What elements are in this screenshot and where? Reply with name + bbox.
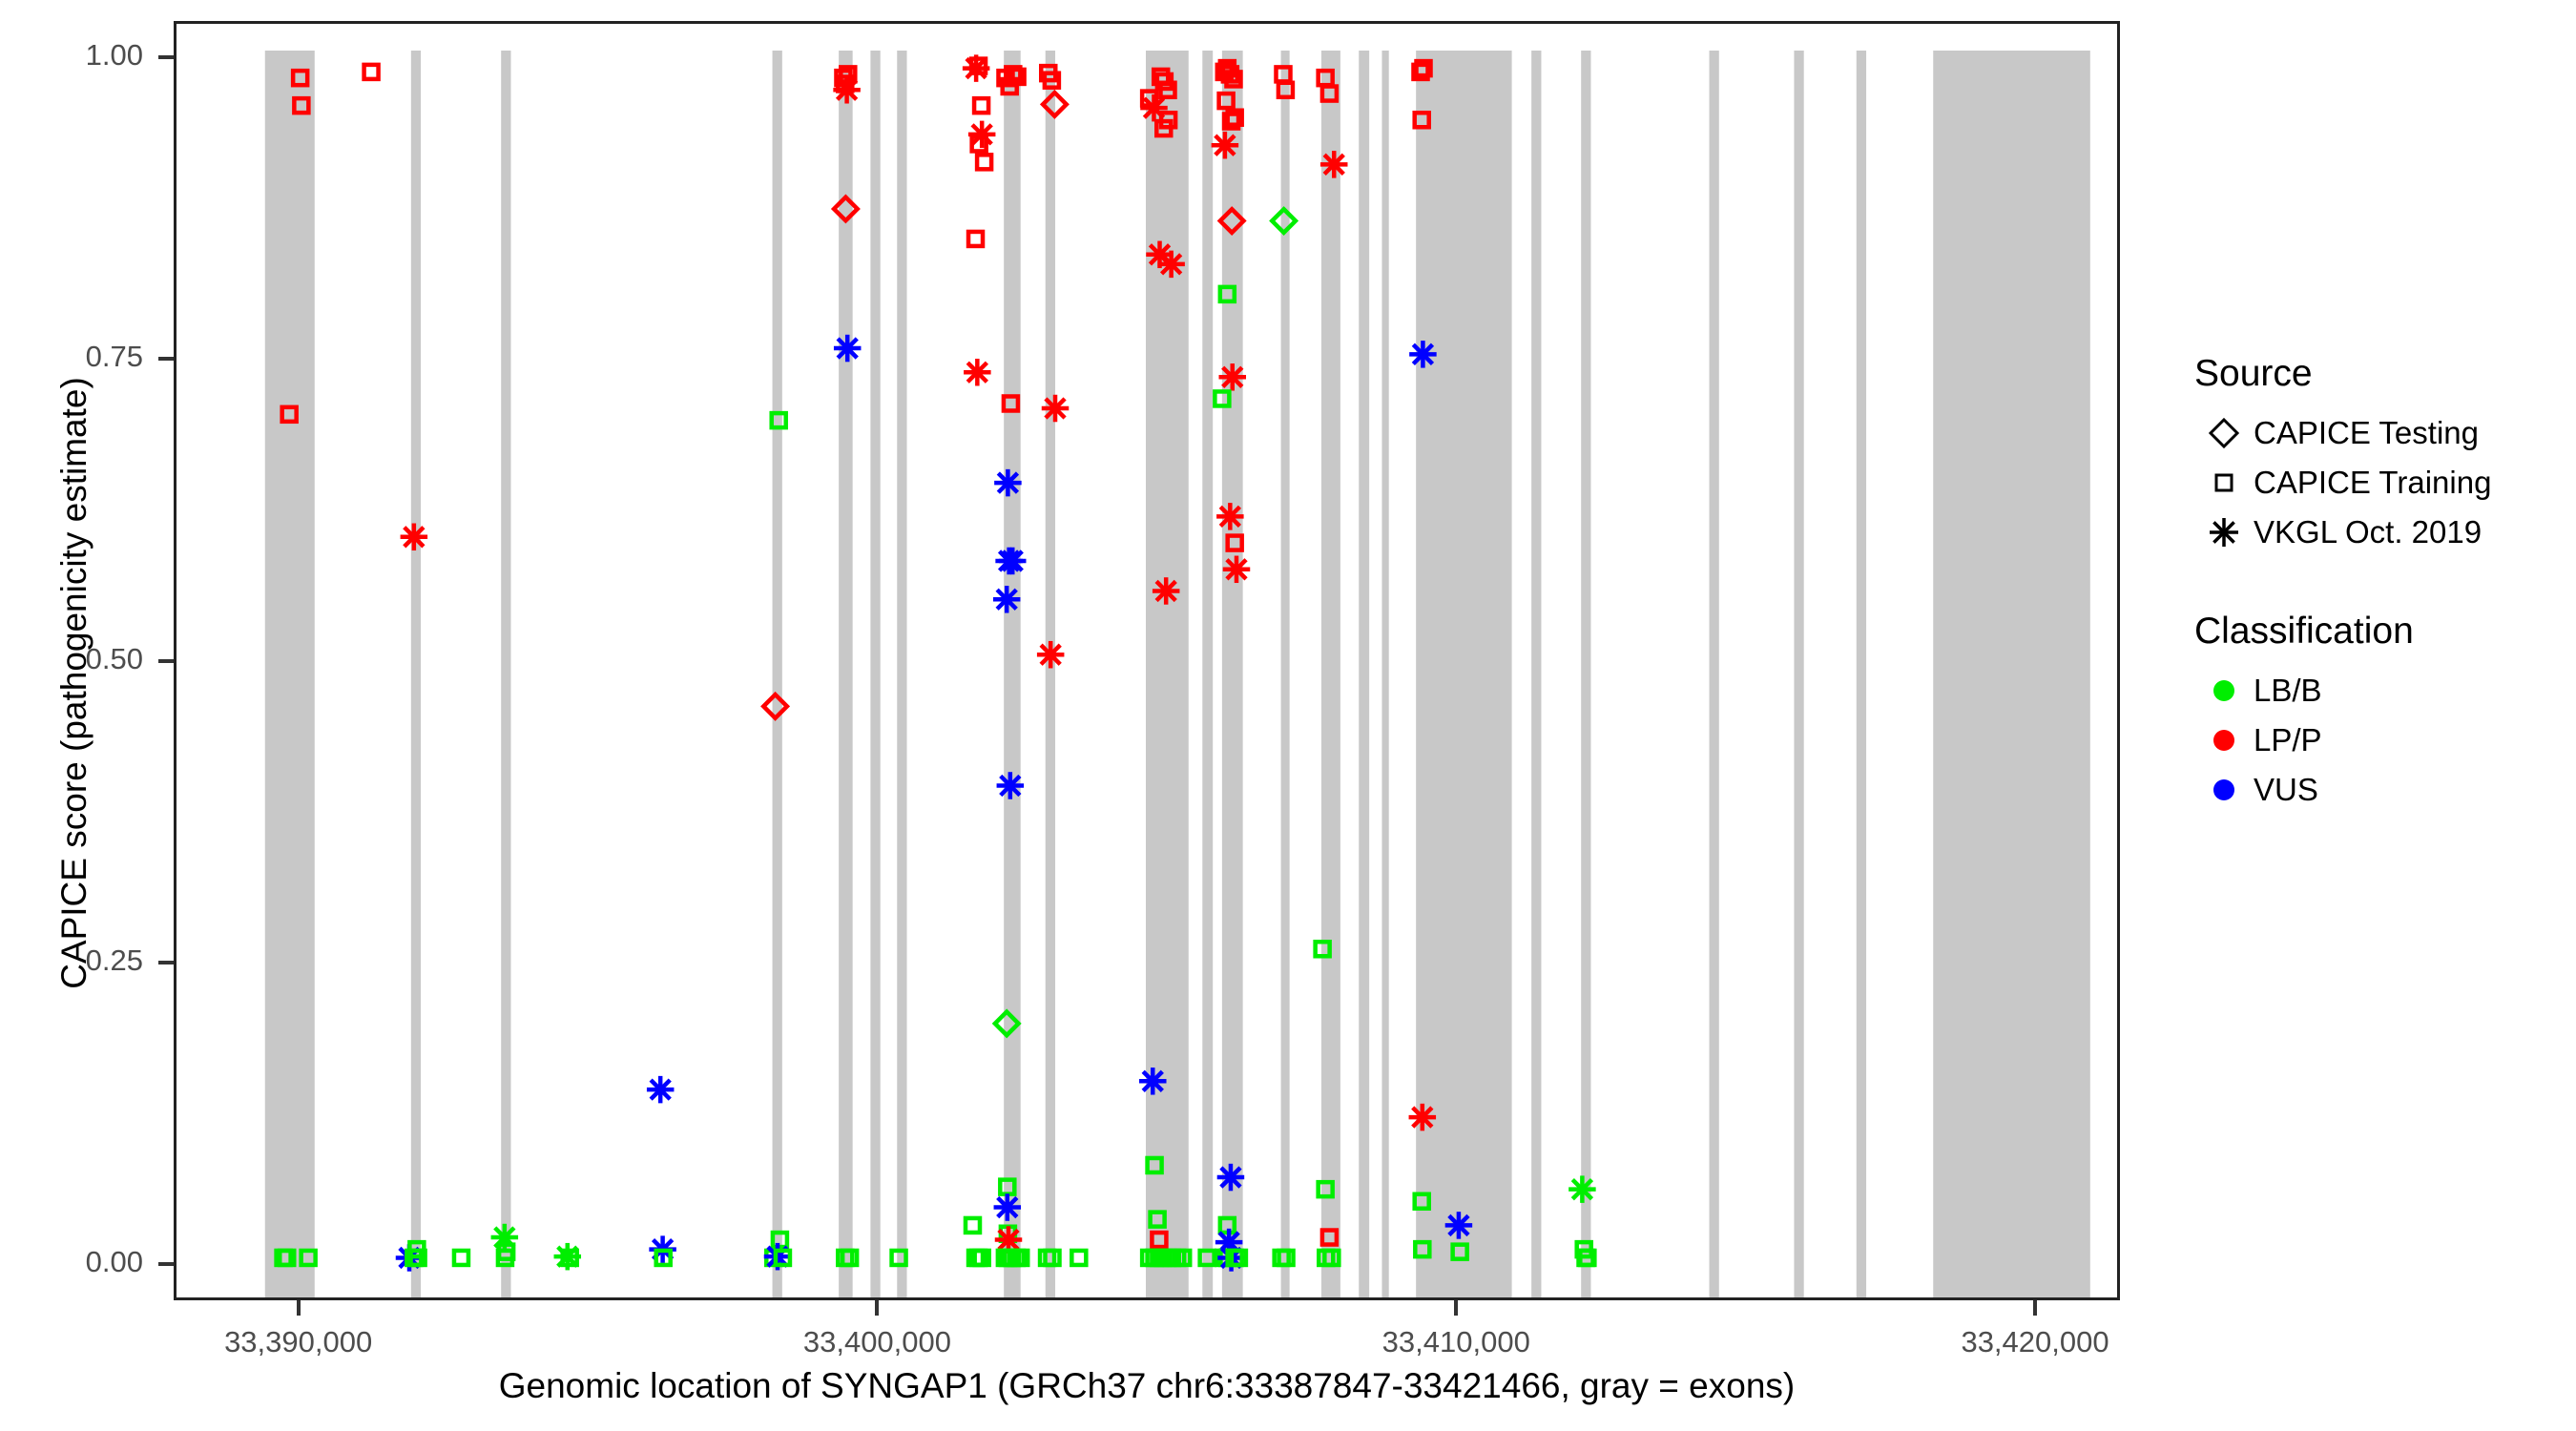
data-point [994,1193,1022,1221]
legend: Source CAPICE TestingCAPICE TrainingVKGL… [2194,353,2566,815]
legend-source-item-row[interactable]: CAPICE Training [2194,458,2566,508]
data-point [1216,503,1244,530]
exon-band [1709,51,1718,1297]
data-point [1071,1251,1086,1265]
exon-bands-layer [265,51,2090,1297]
legend-source-items: CAPICE TestingCAPICE TrainingVKGL Oct. 2… [2194,408,2566,557]
legend-classification-item-label: LP/P [2254,722,2322,758]
exon-band [1222,51,1243,1297]
x-tick-mark [2033,1300,2037,1316]
legend-source-item-row[interactable]: VKGL Oct. 2019 [2194,508,2566,557]
chart-root: CAPICE score (pathogenicity estimate) Ge… [0,0,2576,1431]
data-point [454,1251,468,1265]
x-tick-mark [1454,1300,1458,1316]
legend-classification-item-label: LB/B [2254,673,2322,709]
data-point [1037,641,1065,669]
legend-classification-item-label: VUS [2254,772,2318,808]
exon-band [1281,51,1290,1297]
y-tick-label: 1.00 [0,38,143,73]
data-point [1042,395,1070,423]
y-axis-label: CAPICE score (pathogenicity estimate) [54,111,94,1255]
legend-classification-item-row[interactable]: LB/B [2194,666,2566,715]
exon-band [1794,51,1803,1297]
y-tick-mark [158,55,174,59]
y-tick-mark [158,357,174,361]
exon-band [1004,51,1021,1297]
y-tick-label: 0.50 [0,642,143,676]
legend-classification-item-row[interactable]: LP/P [2194,715,2566,765]
data-point [1157,251,1185,279]
data-point [1212,132,1239,159]
exon-band [1581,51,1590,1297]
data-point [997,772,1025,799]
y-tick-label: 0.00 [0,1245,143,1279]
data-point [364,65,379,79]
exon-band [1321,51,1340,1297]
exon-band [1046,51,1055,1297]
data-point [1568,1175,1596,1203]
exon-band [1202,51,1213,1297]
x-tick-label: 33,400,000 [715,1325,1039,1359]
data-point [1409,341,1437,368]
diamond-icon [2194,412,2254,454]
legend-spacer [2194,557,2566,611]
asterisk-icon [2194,511,2254,553]
legend-source-item-label: CAPICE Testing [2254,415,2479,451]
data-point [994,469,1022,497]
legend-classification-item-row[interactable]: VUS [2194,765,2566,815]
data-point [1217,1164,1245,1192]
exon-band [1381,51,1388,1297]
exon-band [1933,51,2090,1297]
exon-band [839,51,853,1297]
scatter-plot-svg [177,24,2117,1297]
y-tick-mark [158,961,174,964]
y-tick-label: 0.75 [0,340,143,374]
exon-band [773,51,782,1297]
x-axis-label: Genomic location of SYNGAP1 (GRCh37 chr6… [174,1366,2120,1406]
data-point [1445,1212,1473,1239]
x-tick-label: 33,410,000 [1294,1325,1618,1359]
square-icon [2194,462,2254,504]
data-point [1223,556,1251,584]
data-point [974,98,988,113]
exon-band [1359,51,1369,1297]
legend-source-item-label: VKGL Oct. 2019 [2254,514,2482,550]
data-point [999,548,1027,575]
data-point [834,335,862,363]
data-points-layer [277,54,1596,1271]
data-point [977,155,991,169]
exon-band [1146,51,1189,1297]
legend-classification-items: LB/BLP/PVUS [2194,666,2566,815]
data-point [964,359,991,386]
exon-band [897,51,906,1297]
x-tick-label: 33,390,000 [136,1325,461,1359]
x-tick-mark [297,1300,301,1316]
data-point [1320,151,1348,178]
data-point [993,586,1021,613]
exon-band [870,51,880,1297]
exon-band [1531,51,1541,1297]
exon-band [411,51,421,1297]
data-point [1153,577,1180,605]
x-tick-mark [875,1300,879,1316]
legend-source-item-row[interactable]: CAPICE Testing [2194,408,2566,458]
data-point [1139,1068,1167,1095]
dot-icon [2194,719,2254,761]
y-tick-label: 0.25 [0,944,143,978]
x-tick-label: 33,420,000 [1873,1325,2197,1359]
exon-band [265,51,315,1297]
data-point [968,121,996,148]
data-point [647,1076,675,1104]
data-point [968,232,983,246]
data-point [1219,363,1247,391]
legend-source-title: Source [2194,353,2566,395]
plot-panel [174,21,2120,1300]
legend-classification-title: Classification [2194,611,2566,653]
data-point [966,1218,980,1233]
data-point [401,524,428,551]
exon-band [501,51,510,1297]
dot-icon [2194,769,2254,811]
dot-icon [2194,670,2254,712]
exon-band [1857,51,1866,1297]
y-tick-mark [158,659,174,663]
y-tick-mark [158,1262,174,1266]
data-point [1409,1104,1437,1131]
legend-source-item-label: CAPICE Training [2254,465,2491,501]
